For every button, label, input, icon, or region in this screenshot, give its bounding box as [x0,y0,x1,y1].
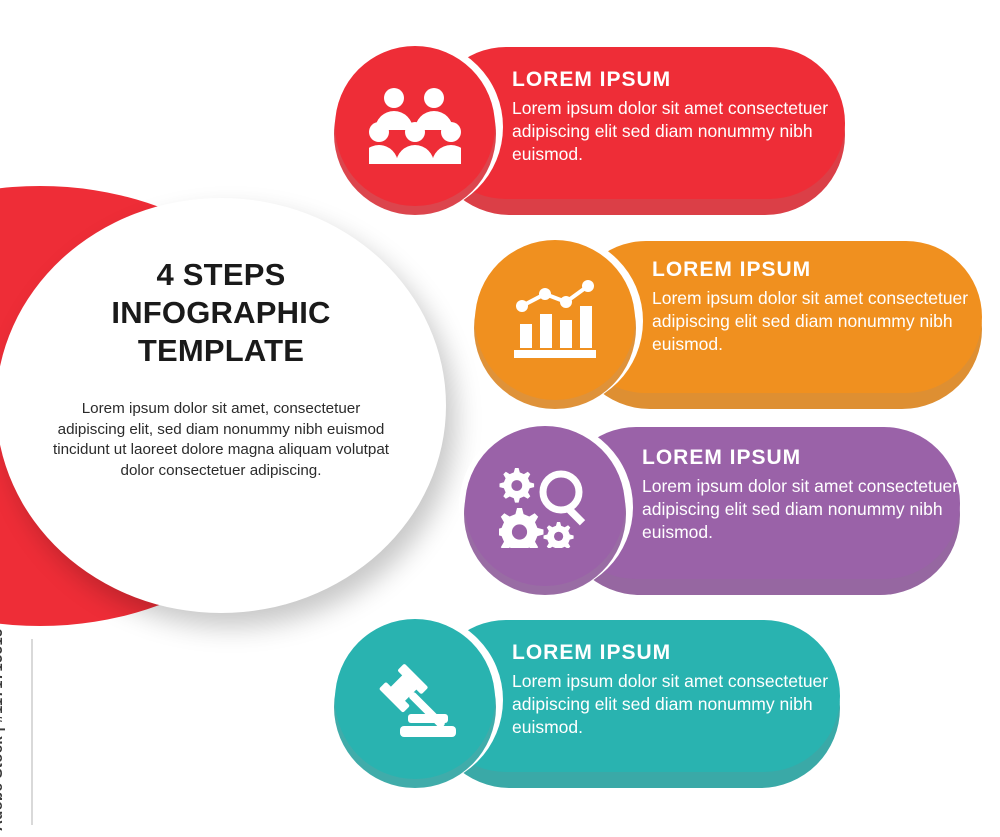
step-3-heading: LOREM IPSUM [642,446,960,470]
step-4-description: Lorem ipsum dolor sit amet consectetuer … [512,670,830,738]
step-2-icon-circle[interactable] [475,240,635,400]
step-4-heading: LOREM IPSUM [512,641,830,665]
step-2-description: Lorem ipsum dolor sit amet consectetuer … [652,287,970,355]
infographic-canvas: 4 STEPS INFOGRAPHIC TEMPLATE Lorem ipsum… [0,0,1000,837]
page-title-line-3: TEMPLATE [18,332,424,370]
gavel-icon [370,656,460,742]
page-title-line-2: INFOGRAPHIC [18,294,424,332]
gears-magnifier-icon [499,464,591,548]
page-title-line-1: 4 STEPS [18,256,424,294]
step-1-description: Lorem ipsum dolor sit amet consectetuer … [512,97,830,165]
step-3-icon-circle[interactable] [465,426,625,586]
step-1-text: LOREM IPSUM Lorem ipsum dolor sit amet c… [512,68,830,165]
step-1-heading: LOREM IPSUM [512,68,830,92]
bar-chart-trend-icon [512,280,598,360]
step-3-description: Lorem ipsum dolor sit amet consectetuer … [642,475,960,543]
hero-group: 4 STEPS INFOGRAPHIC TEMPLATE Lorem ipsum… [0,186,460,646]
watermark-divider [31,639,33,825]
step-4-text: LOREM IPSUM Lorem ipsum dolor sit amet c… [512,641,830,738]
hero-text-block: 4 STEPS INFOGRAPHIC TEMPLATE Lorem ipsum… [18,256,424,482]
watermark-label: Adobe Stock | #1171715515 [0,628,6,831]
step-1-icon-circle[interactable] [335,46,495,206]
hero-description: Lorem ipsum dolor sit amet, consectetuer… [18,399,424,481]
step-2-heading: LOREM IPSUM [652,258,970,282]
people-group-icon [369,88,461,164]
step-4-icon-circle[interactable] [335,619,495,779]
step-3-text: LOREM IPSUM Lorem ipsum dolor sit amet c… [642,446,960,543]
page-title: 4 STEPS INFOGRAPHIC TEMPLATE [18,256,424,369]
step-2-text: LOREM IPSUM Lorem ipsum dolor sit amet c… [652,258,970,355]
